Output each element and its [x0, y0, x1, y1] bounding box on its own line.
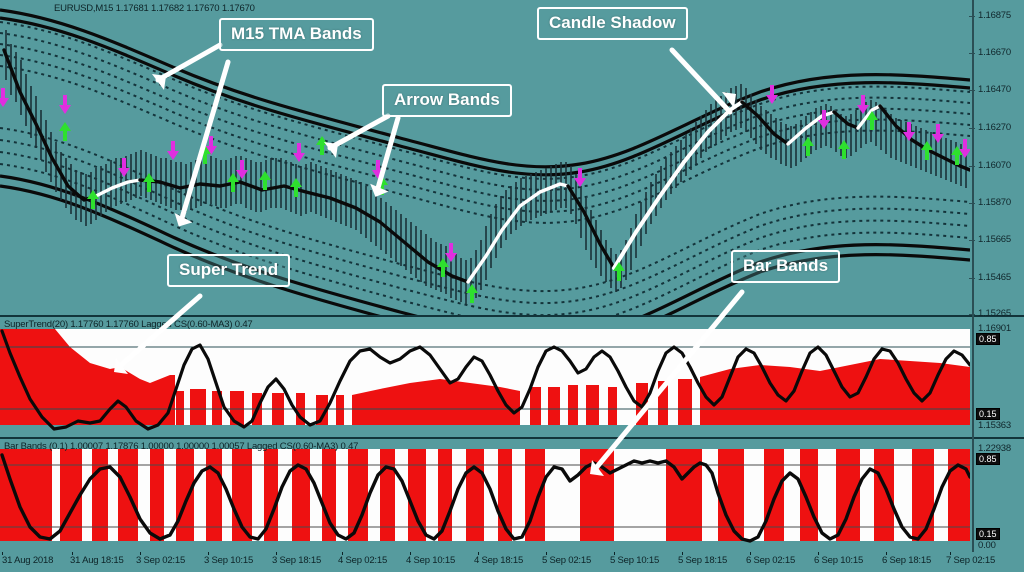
time-axis-label: 6 Sep 02:15: [746, 555, 795, 566]
price-tick: [969, 203, 975, 204]
callout-m15-tma-bands[interactable]: M15 TMA Bands: [219, 18, 374, 51]
time-axis-label: 31 Aug 18:15: [70, 555, 124, 566]
price-axis-label: 1.16070: [978, 160, 1011, 171]
supertrend-oscillator-curve: [2, 331, 970, 429]
price-tick: [969, 166, 975, 167]
callout-bar-bands[interactable]: Bar Bands: [731, 250, 840, 283]
time-axis-label: 6 Sep 18:15: [882, 555, 931, 566]
trading-chart-screenshot: EURUSD,M15 1.17681 1.17682 1.17670 1.176…: [0, 0, 1024, 572]
price-tick: [969, 128, 975, 129]
price-tick: [969, 314, 975, 315]
supertrend-level-085: 0.85: [976, 333, 1000, 345]
barbands-oscillator-curve: [2, 455, 970, 541]
time-axis-label: 5 Sep 10:15: [610, 555, 659, 566]
barbands-level-015: 0.15: [976, 528, 1000, 540]
barbands-level-085: 0.85: [976, 453, 1000, 465]
time-axis-label: 4 Sep 02:15: [338, 555, 387, 566]
price-tick: [969, 53, 975, 54]
time-axis-label: 5 Sep 18:15: [678, 555, 727, 566]
price-tick: [969, 90, 975, 91]
barbands-header: Bar Bands (0.1) 1.00007 1.17876 1.00000 …: [4, 441, 358, 452]
price-chart-panel[interactable]: EURUSD,M15 1.17681 1.17682 1.17670 1.176…: [0, 0, 1024, 316]
price-axis-label: 1.16875: [978, 10, 1011, 21]
barbands-fill: [0, 449, 970, 541]
barbands-scale-bottom: 0.00: [978, 540, 996, 551]
barbands-canvas: [0, 439, 1024, 552]
callout-candle-shadow[interactable]: Candle Shadow: [537, 7, 688, 40]
supertrend-fill: [0, 329, 970, 425]
price-axis-label: 1.16670: [978, 47, 1011, 58]
symbol-header: EURUSD,M15 1.17681 1.17682 1.17670 1.176…: [54, 3, 255, 14]
callout-super-trend[interactable]: Super Trend: [167, 254, 290, 287]
time-axis-label: 5 Sep 02:15: [542, 555, 591, 566]
callout-arrow-bands[interactable]: Arrow Bands: [382, 84, 512, 117]
time-axis-label: 31 Aug 2018: [2, 555, 53, 566]
price-axis-label: 1.16270: [978, 122, 1011, 133]
price-tick: [969, 240, 975, 241]
tma-outer-band-bottom: [0, 176, 970, 316]
tma-dotted-band-lower: [0, 128, 970, 316]
price-tick: [969, 16, 975, 17]
price-axis-label: 1.15265: [978, 308, 1011, 319]
barbands-indicator-panel[interactable]: Bar Bands (0.1) 1.00007 1.17876 1.00000 …: [0, 439, 1024, 552]
price-axis-label: 1.15665: [978, 234, 1011, 245]
time-axis-label: 4 Sep 18:15: [474, 555, 523, 566]
time-axis[interactable]: 31 Aug 2018 31 Aug 18:15 3 Sep 02:15 3 S…: [0, 552, 1024, 572]
supertrend-canvas: [0, 317, 1024, 437]
supertrend-indicator-panel[interactable]: SuperTrend(20) 1.17760 1.17760 Lagged CS…: [0, 317, 1024, 437]
time-axis-label: 7 Sep 02:15: [946, 555, 995, 566]
supertrend-scale-bottom: 1.15363: [978, 420, 1011, 431]
price-axis-line: [972, 0, 974, 552]
price-axis-label: 1.15870: [978, 197, 1011, 208]
price-chart-canvas: [0, 0, 1024, 316]
price-tick: [969, 278, 975, 279]
time-axis-label: 3 Sep 18:15: [272, 555, 321, 566]
price-axis-label: 1.15465: [978, 272, 1011, 283]
time-axis-label: 3 Sep 02:15: [136, 555, 185, 566]
price-axis-label: 1.16470: [978, 84, 1011, 95]
tma-dotted-band-upper: [0, 22, 970, 223]
time-axis-label: 4 Sep 10:15: [406, 555, 455, 566]
supertrend-level-015: 0.15: [976, 408, 1000, 420]
time-axis-label: 6 Sep 10:15: [814, 555, 863, 566]
supertrend-header: SuperTrend(20) 1.17760 1.17760 Lagged CS…: [4, 319, 253, 330]
time-axis-label: 3 Sep 10:15: [204, 555, 253, 566]
